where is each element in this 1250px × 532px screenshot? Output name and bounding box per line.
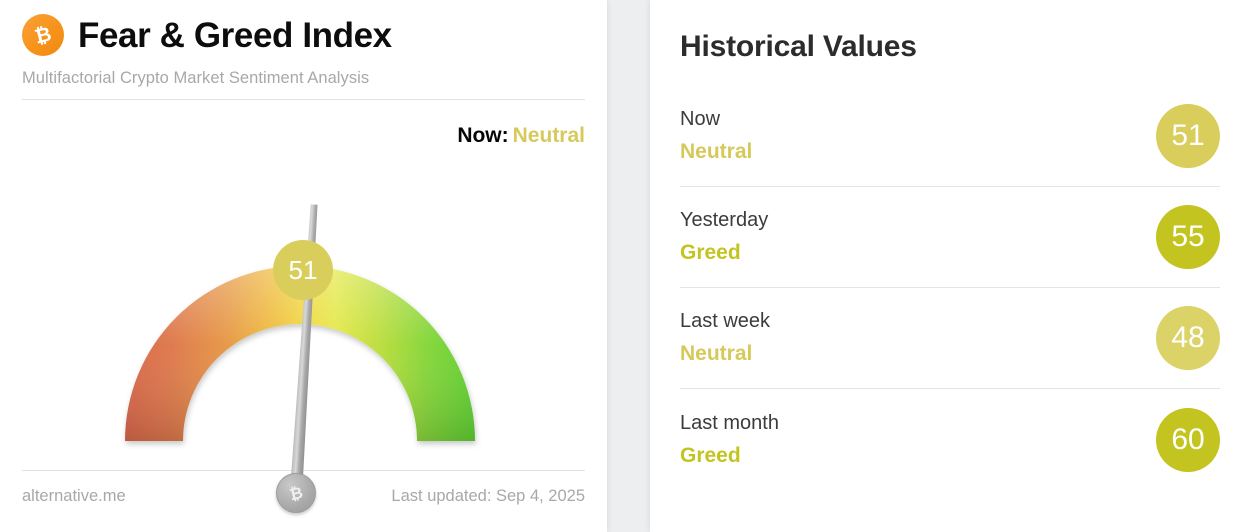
historical-values-list: Now Neutral 51 Yesterday Greed 55 Last w… bbox=[680, 86, 1220, 490]
list-item[interactable]: Yesterday Greed 55 bbox=[680, 187, 1220, 288]
history-classification: Greed bbox=[680, 444, 779, 468]
history-value-badge: 51 bbox=[1156, 104, 1220, 168]
page-subtitle: Multifactorial Crypto Market Sentiment A… bbox=[22, 69, 585, 88]
historical-values-title: Historical Values bbox=[680, 0, 1220, 64]
history-value-badge: 60 bbox=[1156, 408, 1220, 472]
list-item[interactable]: Last week Neutral 48 bbox=[680, 288, 1220, 389]
gauge-hub-bitcoin-icon: ₿ bbox=[276, 473, 316, 513]
gauge: ₿ 51 bbox=[0, 116, 607, 486]
history-period-label: Last week bbox=[680, 310, 770, 333]
bitcoin-icon: ₿ bbox=[22, 14, 64, 56]
gauge-panel: ₿ Fear & Greed Index Multifactorial Cryp… bbox=[0, 0, 607, 532]
list-item[interactable]: Last month Greed 60 bbox=[680, 389, 1220, 490]
history-period-label: Now bbox=[680, 108, 752, 131]
gauge-value-badge: 51 bbox=[273, 240, 333, 300]
source-link[interactable]: alternative.me bbox=[22, 487, 126, 506]
history-classification: Neutral bbox=[680, 342, 770, 366]
fear-greed-index-page: ₿ Fear & Greed Index Multifactorial Cryp… bbox=[0, 0, 1250, 532]
history-period-label: Yesterday bbox=[680, 209, 768, 232]
history-value-badge: 55 bbox=[1156, 205, 1220, 269]
history-classification: Neutral bbox=[680, 140, 752, 164]
list-item[interactable]: Now Neutral 51 bbox=[680, 86, 1220, 187]
header-divider bbox=[22, 99, 585, 100]
gauge-needle bbox=[0, 116, 607, 486]
panel-gap bbox=[607, 0, 650, 532]
page-title: Fear & Greed Index bbox=[78, 18, 392, 53]
history-value-badge: 48 bbox=[1156, 306, 1220, 370]
svg-text:₿: ₿ bbox=[33, 23, 54, 48]
history-classification: Greed bbox=[680, 241, 768, 265]
history-period-label: Last month bbox=[680, 412, 779, 435]
last-updated: Last updated: Sep 4, 2025 bbox=[391, 487, 585, 506]
panel-header: ₿ Fear & Greed Index bbox=[22, 0, 585, 56]
historical-values-panel: Historical Values Now Neutral 51 Yesterd… bbox=[650, 0, 1250, 532]
svg-text:₿: ₿ bbox=[288, 484, 305, 504]
